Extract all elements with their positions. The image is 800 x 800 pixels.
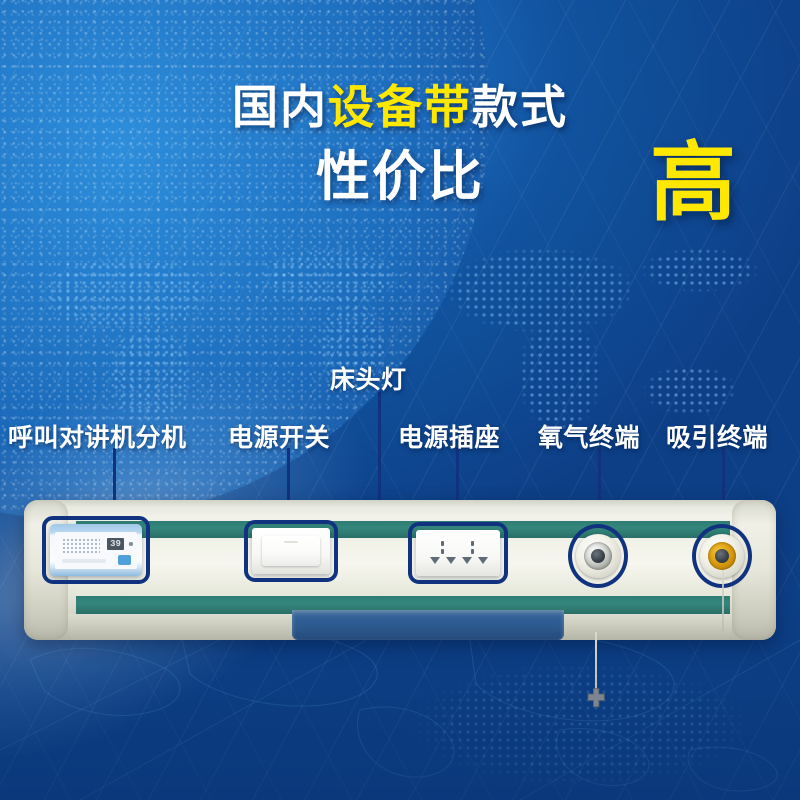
pull-cord [595,632,597,692]
callout-label-power-socket: 电源插座 [398,418,500,454]
headline-part-2-highlight: 设备带 [328,81,472,133]
callout-label-intercom: 呼叫对讲机分机 [8,418,187,454]
headline-line-1: 国内设备带款式 [0,84,800,130]
headline-part-1: 国内 [232,81,328,133]
unit-stripe-top [76,521,730,538]
unit-face-panel [76,538,730,596]
callout-label-bed-lamp: 床头灯 [330,360,407,396]
highlight-box-socket [408,522,508,584]
headline-emphasis-char: 高 [650,140,736,226]
highlight-box-intercom [42,516,150,584]
lamp-strip[interactable] [292,610,564,640]
callout-label-oxygen: 氧气终端 [538,418,640,454]
highlight-box-power-switch [244,520,338,582]
headline-line-2-text: 性价比 [316,147,484,207]
suction-hose-cord [722,570,724,632]
headline-part-3: 款式 [472,81,568,133]
highlight-circle-oxygen [568,524,628,588]
pull-cord-weight-icon [584,686,608,710]
callout-label-suction: 吸引终端 [666,418,768,454]
callout-label-power-switch: 电源开关 [228,418,330,454]
banner-image: 国内设备带款式 性价比 高 呼叫对讲机分机 电源开关 床头灯 电源插座 氧气终端… [0,0,800,800]
